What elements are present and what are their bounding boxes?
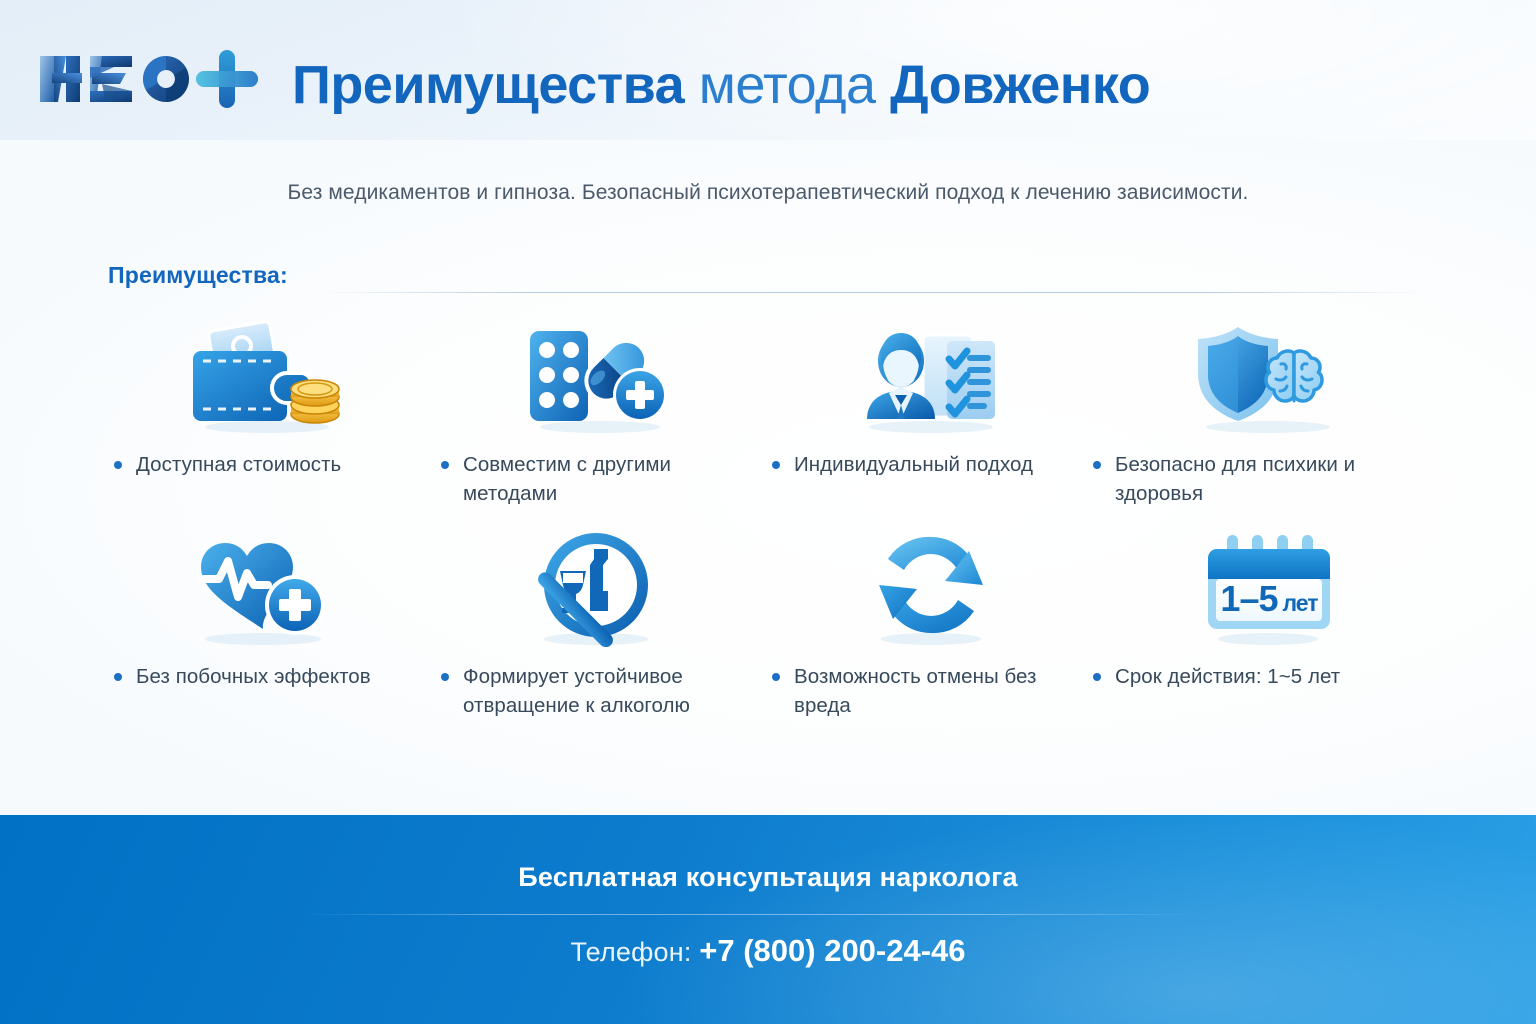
benefit-item: 1–5лет Срок действия: 1~5 лет	[1101, 524, 1436, 736]
benefit-item: Возможность отмены без вреда	[766, 524, 1101, 736]
benefit-label: Возможность отмены без вреда	[768, 662, 1068, 720]
benefit-label: Совместим с другими методами	[437, 450, 737, 508]
benefit-item: Безопасно для психики и здоровья	[1101, 312, 1436, 524]
title-part-bold-1: Преимущества	[292, 55, 684, 115]
footer-divider	[300, 914, 1200, 915]
benefit-item: Доступная стоимость	[96, 312, 431, 524]
benefit-label: Индивидуальный подход	[768, 450, 1068, 479]
title-part-bold-2: Довженко	[890, 55, 1150, 115]
shield-brain-icon	[1101, 312, 1436, 440]
calendar-range-number: 1–5	[1220, 578, 1278, 619]
benefit-item: Совместим с другими методами	[431, 312, 766, 524]
section-divider	[320, 292, 1430, 293]
benefit-label: Формирует устойчивое отвращение к алкого…	[437, 662, 737, 720]
phone-label: Телефон:	[570, 937, 691, 967]
footer-cta-band: Бесплатная консупьтация нарколога Телефо…	[0, 815, 1536, 1024]
infographic-poster: Преимущества метода Довженко Без медикам…	[0, 0, 1536, 1024]
benefits-grid: Доступная стоимость	[96, 312, 1436, 736]
benefit-item: Без побочных эффектов	[96, 524, 431, 736]
footer-headline: Бесплатная консупьтация нарколога	[0, 862, 1536, 893]
benefit-label: Безопасно для психики и здоровья	[1089, 450, 1389, 508]
pills-capsule-plus-icon	[431, 312, 766, 440]
footer-phone-row: Телефон: +7 (800) 200-24-46	[0, 933, 1536, 969]
section-label: Преимущества:	[108, 262, 288, 289]
calendar-years-icon: 1–5лет	[1101, 524, 1436, 652]
benefit-label: Срок действия: 1~5 лет	[1089, 662, 1389, 691]
benefit-label: Без побочных эффектов	[110, 662, 410, 691]
phone-number[interactable]: +7 (800) 200-24-46	[699, 933, 965, 968]
subtitle: Без медикаментов и гипноза. Безопасный п…	[0, 178, 1536, 208]
footer-sheen	[0, 815, 1536, 1024]
no-alcohol-icon	[431, 524, 766, 652]
benefit-item: Индивидуальный подход	[766, 312, 1101, 524]
calendar-range-unit: лет	[1283, 590, 1319, 616]
heart-pulse-plus-icon	[96, 524, 431, 652]
page-title: Преимущества метода Довженко	[292, 54, 1150, 116]
neo-plus-logo	[36, 48, 272, 110]
reverse-arrows-icon	[766, 524, 1101, 652]
benefit-label: Доступная стоимость	[110, 450, 410, 479]
doctor-checklist-icon	[766, 312, 1101, 440]
header-band: Преимущества метода Довженко	[0, 0, 1536, 140]
title-part-light: метода	[699, 55, 876, 115]
benefit-item: Формирует устойчивое отвращение к алкого…	[431, 524, 766, 736]
wallet-coins-icon	[96, 312, 431, 440]
